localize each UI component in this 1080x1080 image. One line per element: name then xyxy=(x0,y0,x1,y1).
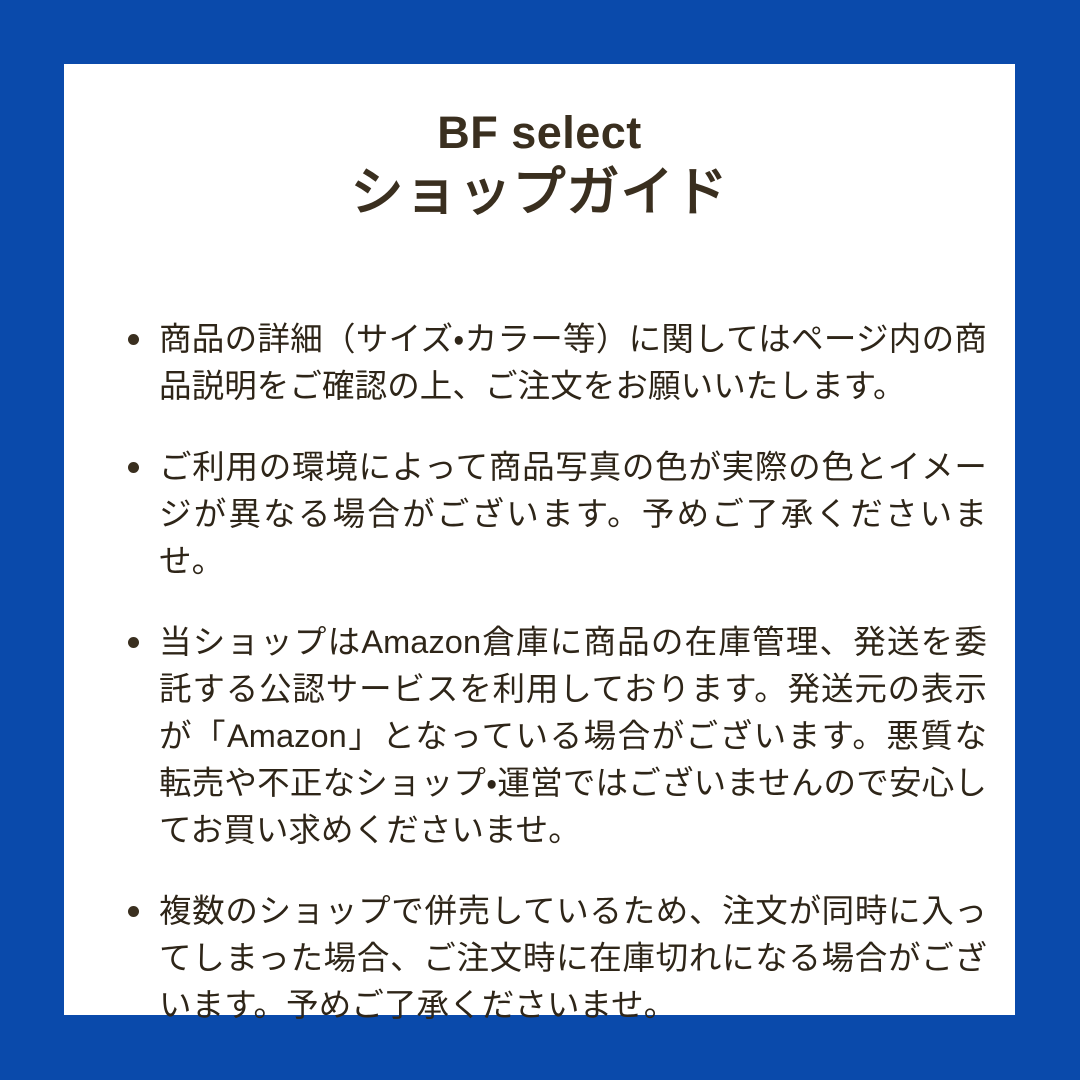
list-item: 当ショップはAmazon倉庫に商品の在庫管理、発送を委託する公認サービスを利用し… xyxy=(124,619,987,854)
guide-card: BF select ショップガイド 商品の詳細（サイズ・カラー等）に関してはペー… xyxy=(64,64,1015,1015)
list-item-text: 当ショップはAmazon倉庫に商品の在庫管理、発送を委託する公認サービスを利用し… xyxy=(159,619,987,854)
page-title: BF select ショップガイド xyxy=(64,64,1015,228)
list-item: ご利用の環境によって商品写真の色が実際の色とイメージが異なる場合がございます。予… xyxy=(124,444,987,585)
bullet-dot-icon xyxy=(128,462,139,473)
list-item-text: 商品の詳細（サイズ・カラー等）に関してはページ内の商品説明をご確認の上、ご注文を… xyxy=(159,316,987,410)
title-line-brand: BF select xyxy=(64,107,1015,159)
bullet-dot-icon xyxy=(128,334,139,345)
title-line-subject: ショップガイド xyxy=(64,159,1015,228)
list-item-text: ご利用の環境によって商品写真の色が実際の色とイメージが異なる場合がございます。予… xyxy=(159,444,987,585)
blue-border-frame: BF select ショップガイド 商品の詳細（サイズ・カラー等）に関してはペー… xyxy=(0,0,1080,1080)
bullet-dot-icon xyxy=(128,637,139,648)
list-item: 複数のショップで併売しているため、注文が同時に入ってしまった場合、ご注文時に在庫… xyxy=(124,888,987,1029)
bullet-dot-icon xyxy=(128,906,139,917)
guide-notes-list: 商品の詳細（サイズ・カラー等）に関してはページ内の商品説明をご確認の上、ご注文を… xyxy=(124,316,987,1029)
list-item: 商品の詳細（サイズ・カラー等）に関してはページ内の商品説明をご確認の上、ご注文を… xyxy=(124,316,987,410)
list-item-text: 複数のショップで併売しているため、注文が同時に入ってしまった場合、ご注文時に在庫… xyxy=(159,888,987,1029)
